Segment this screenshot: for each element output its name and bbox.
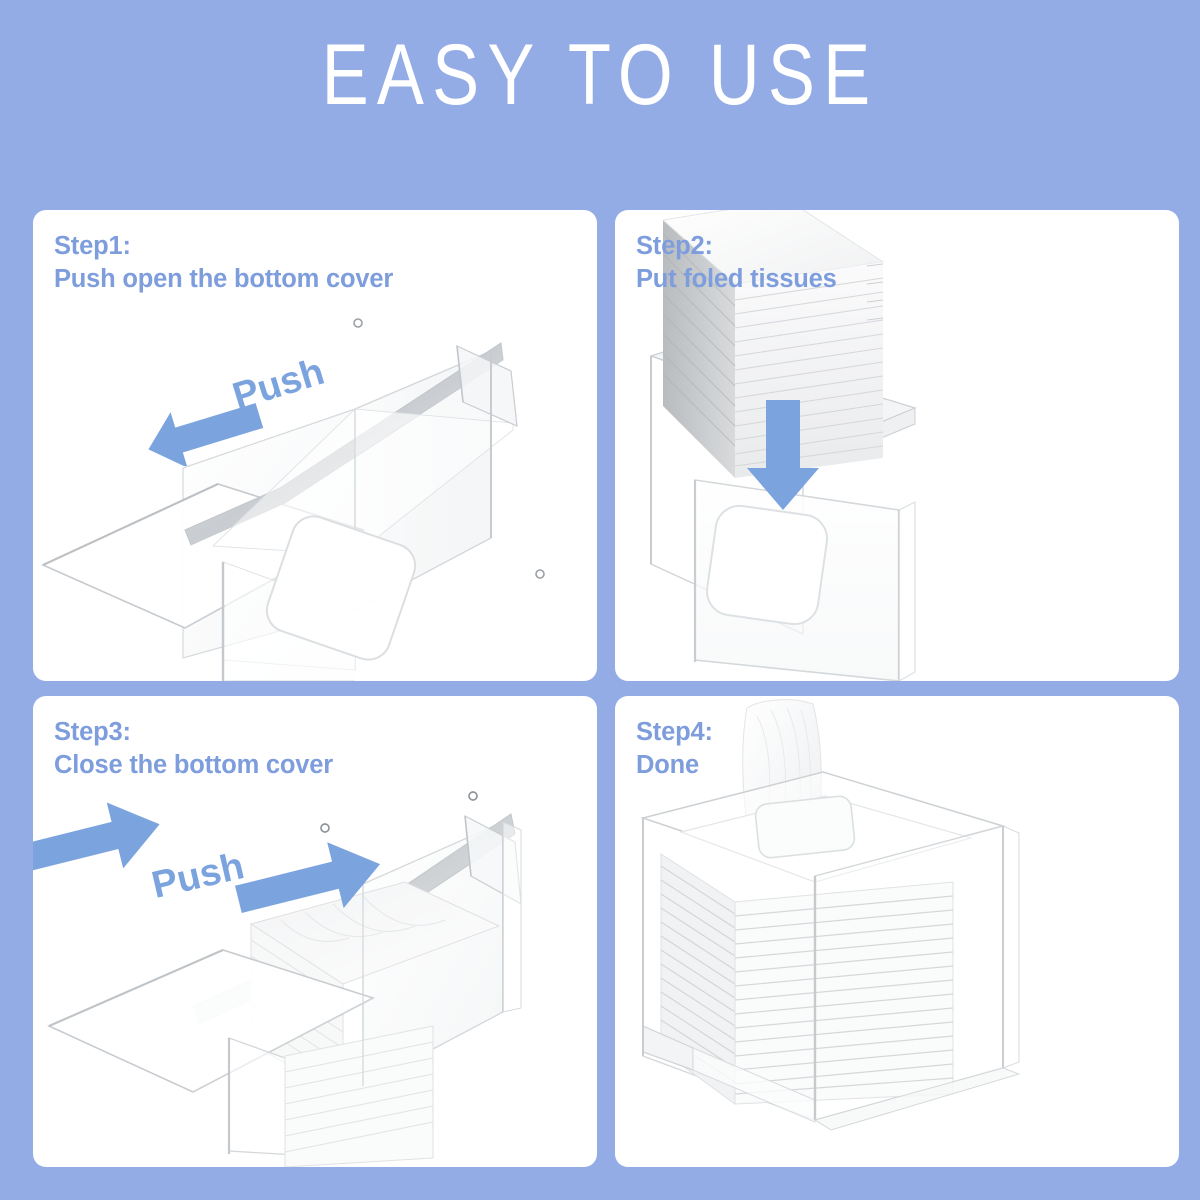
step-card-2: Step2: Put foled tissues <box>615 210 1179 681</box>
step-1-label: Step1: Push open the bottom cover <box>54 230 393 296</box>
right-arrow-icon <box>33 791 168 893</box>
step-4-description: Done <box>636 751 699 779</box>
step-card-4: Step4: Done <box>615 696 1179 1167</box>
step-4-label: Step4: Done <box>636 716 713 782</box>
step-2-description: Put foled tissues <box>636 265 837 293</box>
easy-to-use-instruction-graphic: EASY TO USE Step1: Push open the bottom … <box>0 0 1200 1200</box>
step-card-3: Step3: Close the bottom cover <box>33 696 597 1167</box>
step-card-1: Step1: Push open the bottom cover <box>33 210 597 681</box>
step-4-number: Step4: <box>636 718 713 746</box>
right-arrow-icon-step3 <box>228 838 388 929</box>
step-1-description: Push open the bottom cover <box>54 265 393 293</box>
steps-grid: Step1: Push open the bottom cover <box>33 210 1179 1167</box>
step-3-label: Step3: Close the bottom cover <box>54 716 333 782</box>
step-2-number: Step2: <box>636 232 713 260</box>
step-3-number: Step3: <box>54 718 131 746</box>
step-2-label: Step2: Put foled tissues <box>636 230 837 296</box>
step-1-number: Step1: <box>54 232 131 260</box>
step-3-description: Close the bottom cover <box>54 751 333 779</box>
page-title: EASY TO USE <box>108 28 1092 122</box>
